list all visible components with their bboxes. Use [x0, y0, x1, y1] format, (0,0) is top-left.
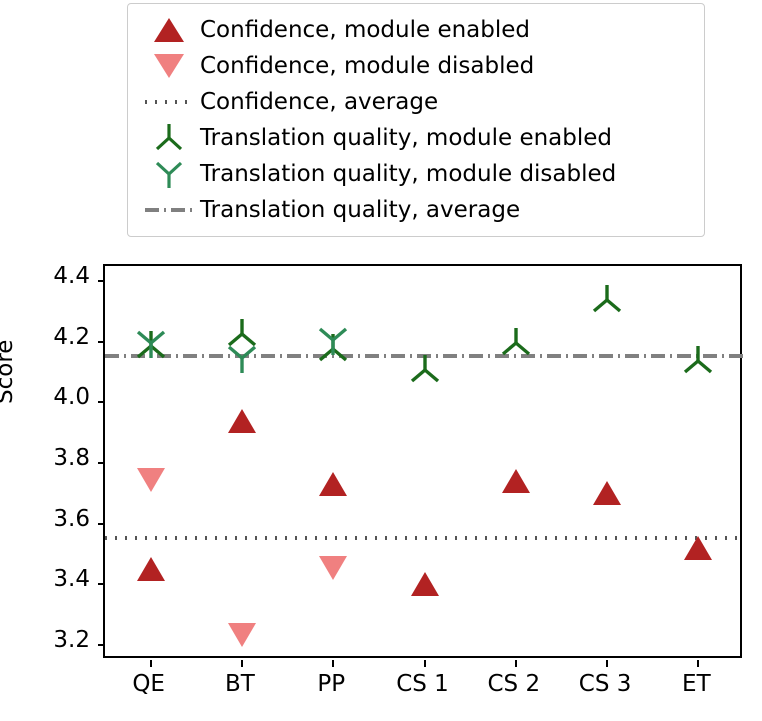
y-axis-tick [98, 401, 105, 403]
reference-line [105, 525, 740, 529]
y-axis-tick [98, 583, 105, 585]
data-point [316, 332, 350, 370]
legend-label: Translation quality, average [200, 192, 520, 228]
data-point [225, 405, 259, 443]
x-axis-tick [332, 660, 334, 667]
x-axis-tick-label: ET [682, 671, 711, 697]
plot-area [103, 264, 742, 658]
chart-legend: Confidence, module enabled Confidence, m… [127, 3, 705, 237]
y-axis-tick-label: 3.6 [8, 506, 90, 532]
figure: Confidence, module enabled Confidence, m… [0, 0, 762, 721]
y-axis-tick [98, 280, 105, 282]
data-point [408, 353, 442, 391]
x-axis-tick [515, 660, 517, 667]
tri-down-dark-green-icon [138, 120, 200, 156]
legend-entry-confidence-average: Confidence, average [138, 84, 694, 120]
plot-inner [105, 266, 740, 656]
x-axis-tick [606, 660, 608, 667]
legend-entry-confidence-disabled: Confidence, module disabled [138, 48, 694, 84]
legend-entry-quality-enabled: Translation quality, module enabled [138, 120, 694, 156]
data-point [225, 617, 259, 655]
legend-label: Confidence, module enabled [200, 12, 530, 48]
y-axis-tick [98, 523, 105, 525]
x-axis-tick-label: QE [132, 671, 165, 697]
dashdot-line-icon [138, 192, 200, 228]
y-axis-tick-label: 4.0 [8, 384, 90, 410]
x-axis-tick [424, 660, 426, 667]
x-axis-tick-label: CS 3 [579, 671, 632, 697]
x-axis-tick-label: PP [317, 671, 345, 697]
y-axis-tick-label: 4.4 [8, 263, 90, 289]
data-point [316, 468, 350, 506]
y-axis-tick-label: 3.8 [8, 445, 90, 471]
y-axis-tick-label: 3.2 [8, 627, 90, 653]
data-point [499, 465, 533, 503]
data-point [134, 462, 168, 500]
y-axis-tick [98, 462, 105, 464]
y-axis-tick-label: 4.2 [8, 324, 90, 350]
data-point [681, 344, 715, 382]
tri-up-sea-green-icon [138, 156, 200, 192]
data-point [316, 550, 350, 588]
data-point [134, 329, 168, 367]
x-axis-tick [150, 660, 152, 667]
legend-entry-confidence-enabled: Confidence, module enabled [138, 12, 694, 48]
legend-entry-quality-disabled: Translation quality, module disabled [138, 156, 694, 192]
x-axis-tick-label: BT [225, 671, 255, 697]
legend-entry-quality-average: Translation quality, average [138, 192, 694, 228]
triangle-down-salmon-icon [138, 48, 200, 84]
legend-label: Confidence, module disabled [200, 48, 534, 84]
x-axis-tick [697, 660, 699, 667]
legend-label: Translation quality, module disabled [200, 156, 616, 192]
reference-line [105, 343, 740, 347]
data-point [590, 477, 624, 515]
x-axis-tick [241, 660, 243, 667]
x-axis-tick-label: CS 2 [487, 671, 540, 697]
data-point [590, 283, 624, 321]
legend-label: Confidence, average [200, 84, 438, 120]
y-axis-tick [98, 341, 105, 343]
y-axis-tick [98, 644, 105, 646]
triangle-up-dark-red-icon [138, 12, 200, 48]
data-point [134, 553, 168, 591]
dotted-line-icon [138, 84, 200, 120]
y-axis-tick-label: 3.4 [8, 566, 90, 592]
x-axis-tick-label: CS 1 [396, 671, 449, 697]
legend-label: Translation quality, module enabled [200, 120, 612, 156]
data-point [408, 568, 442, 606]
data-point [225, 317, 259, 355]
